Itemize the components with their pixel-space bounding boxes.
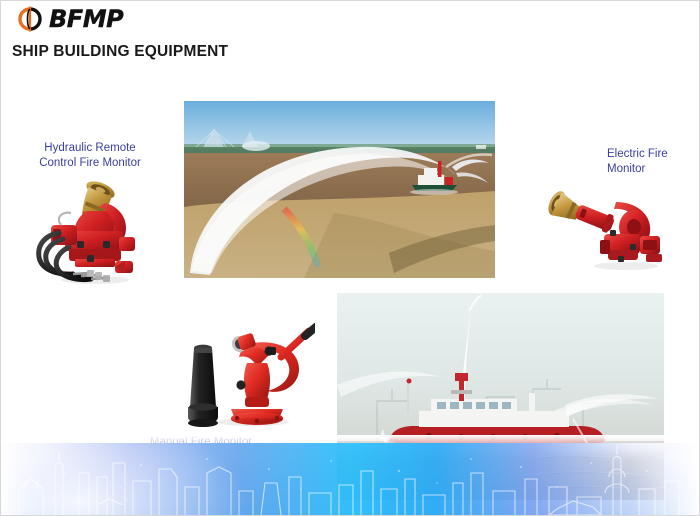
page-title: SHIP BUILDING EQUIPMENT [12, 43, 228, 61]
slide: BFMP SHIP BUILDING EQUIPMENT Hydraulic R… [0, 0, 700, 516]
water-arc-photo [184, 101, 495, 278]
bfmp-phi-logo-mark-icon [17, 6, 43, 32]
electric-fire-monitor-image [546, 178, 670, 274]
brand-logo: BFMP [17, 6, 123, 32]
caption-hydraulic-remote-control-fire-monitor: Hydraulic Remote Control Fire Monitor [15, 141, 165, 171]
hydraulic-remote-control-fire-monitor-image [29, 177, 161, 285]
manual-fire-monitor-image [179, 323, 315, 431]
brand-logo-text: BFMP [49, 7, 123, 31]
city-skyline-band [1, 443, 700, 515]
caption-electric-fire-monitor: Electric Fire Monitor [607, 147, 699, 177]
